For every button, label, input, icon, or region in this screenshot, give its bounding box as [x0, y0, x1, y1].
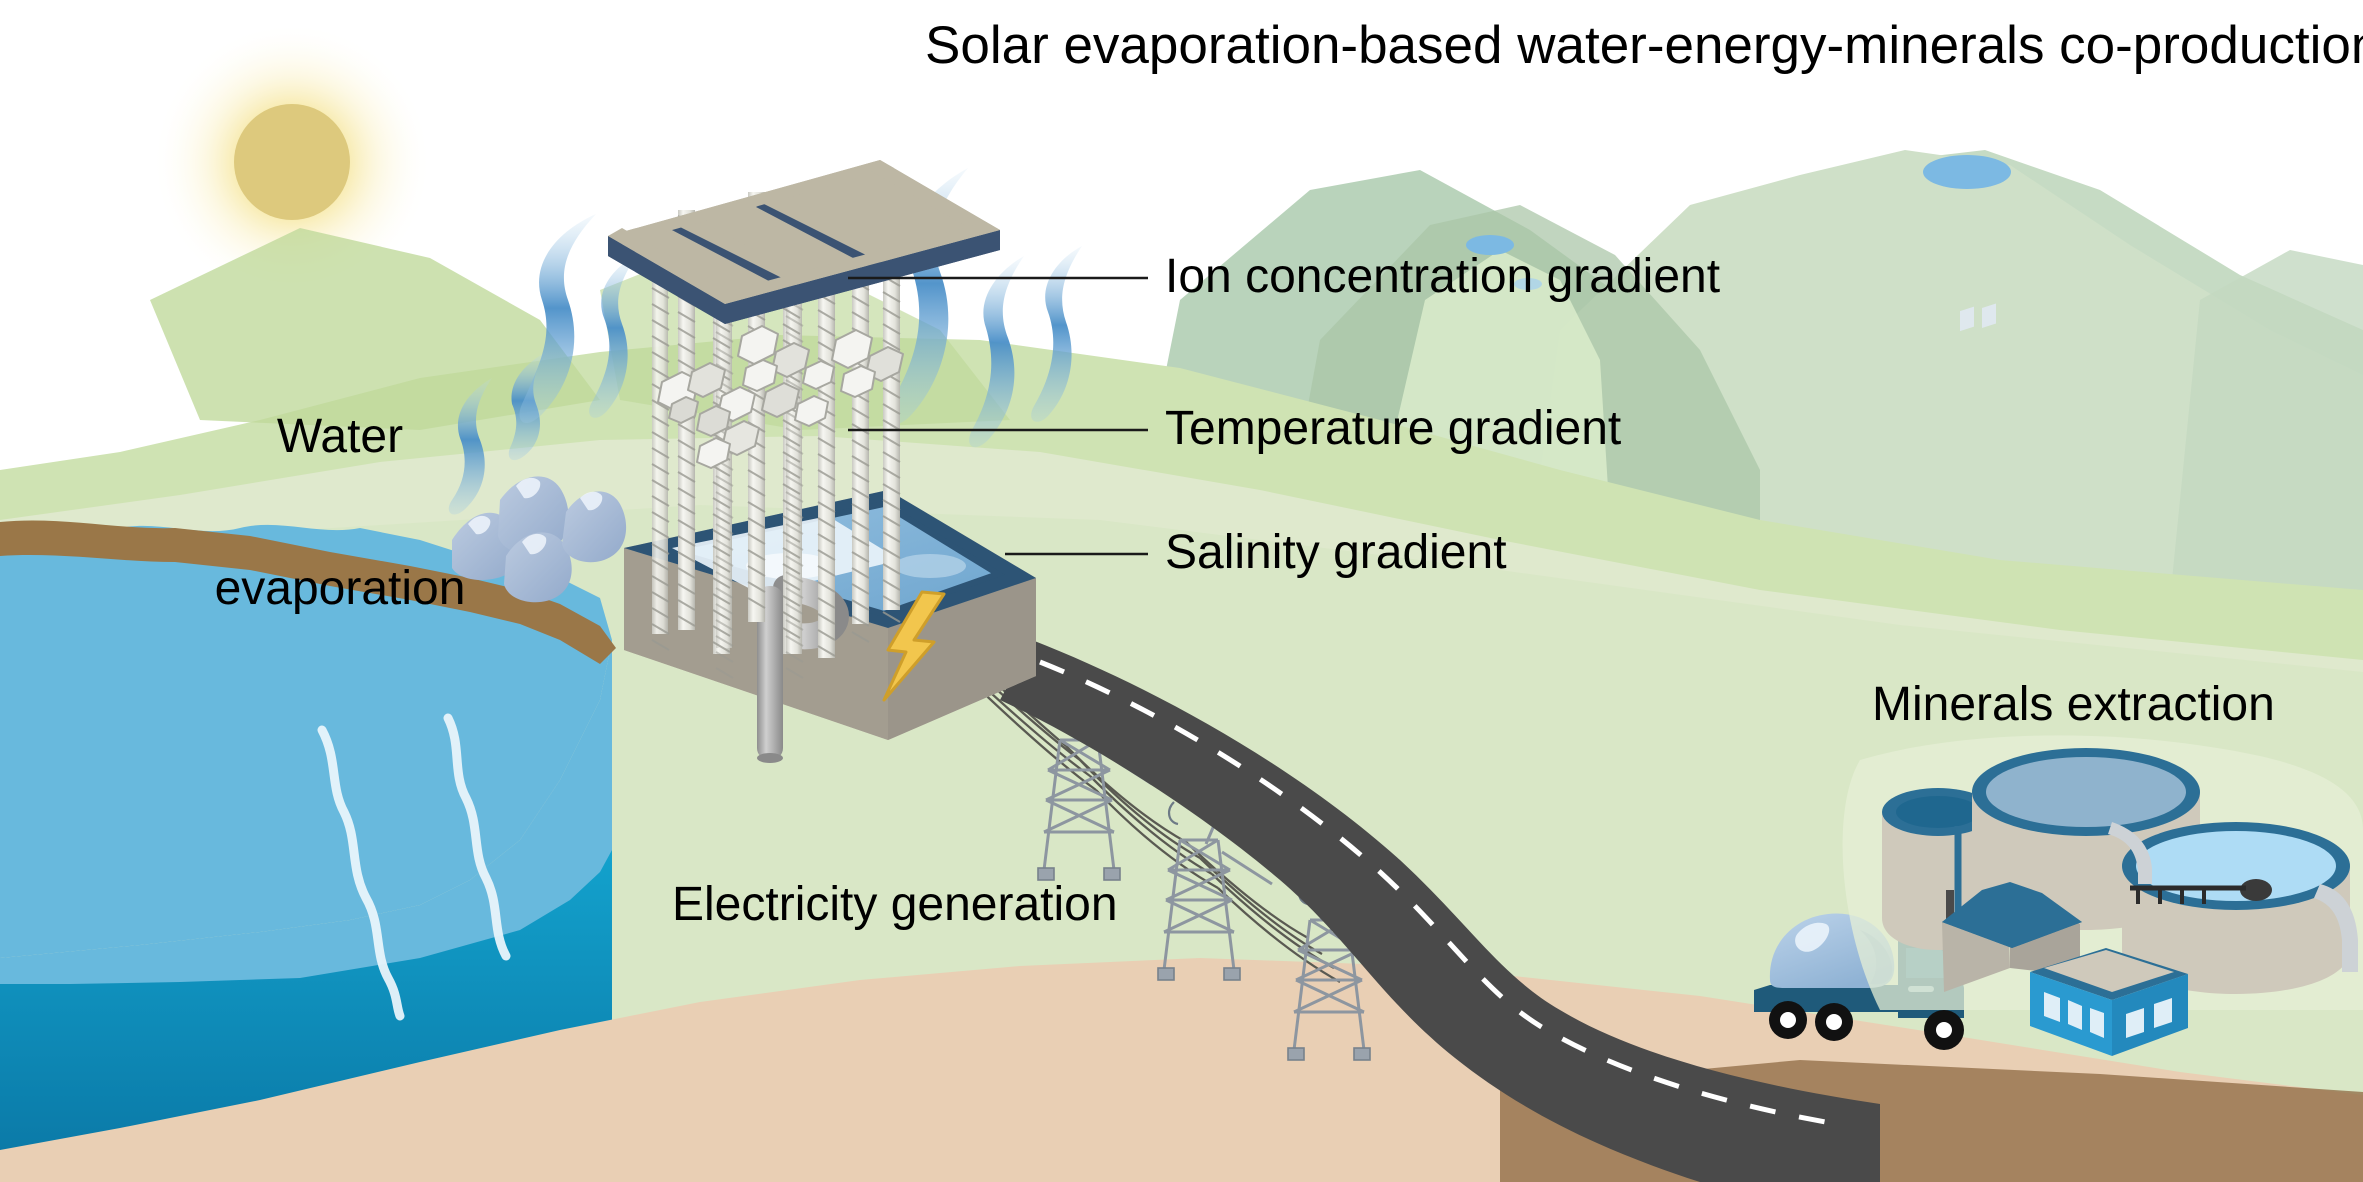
label-water-evaporation: Water evaporation [190, 310, 490, 717]
callout-temperature-gradient: Temperature gradient [1165, 404, 1621, 455]
label-minerals-extraction: Minerals extraction [1872, 680, 2275, 731]
mountain-lake [1923, 155, 2011, 189]
callout-ion-concentration-gradient: Ion concentration gradient [1165, 252, 1720, 303]
label-water-evaporation-line1: Water [190, 412, 490, 463]
label-electricity-generation: Electricity generation [672, 880, 1118, 931]
callout-salinity-gradient: Salinity gradient [1165, 528, 1507, 579]
figure-title: Solar evaporation-based water-energy-min… [925, 18, 2363, 74]
figure-canvas: Solar evaporation-based water-energy-min… [0, 0, 2363, 1182]
label-water-evaporation-line2: evaporation [190, 564, 490, 615]
